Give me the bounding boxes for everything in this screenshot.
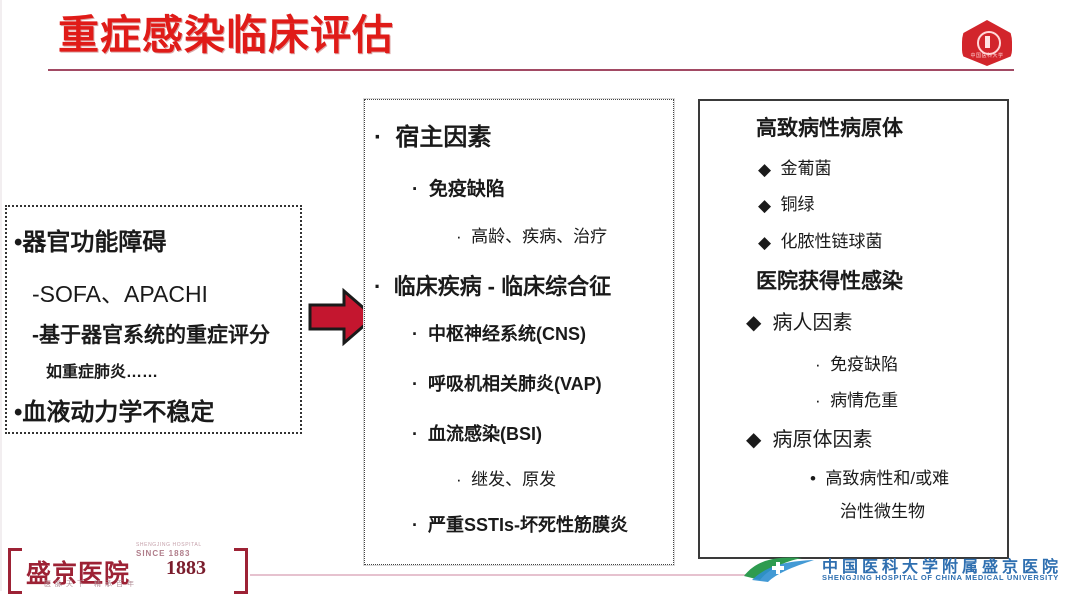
mid-heading-host-factors-label: 宿主因素 [395, 124, 491, 151]
footer-rule [250, 574, 760, 576]
bullet-icon: · [456, 227, 462, 246]
right-item-patient-factors-label: 病人因素 [773, 312, 853, 334]
right-item-virulent-resistant-label: 高致病性和/或难 [825, 469, 949, 488]
mid-heading-clinical-disease-label: 临床疾病 - 临床综合征 [394, 274, 612, 299]
mid-item-sstis: · 严重SSTIs-坏死性筋膜炎 [412, 511, 628, 537]
logo-english-small: SHENGJING HOSPITAL [136, 542, 202, 548]
logo-motto: 医脉天下 精承百年 [44, 579, 138, 589]
right-item-patient-factors: ◆ 病人因素 [746, 306, 853, 335]
bullet-icon: · [412, 515, 418, 535]
diamond-bullet-icon: ◆ [758, 160, 771, 180]
bullet-icon: · [412, 179, 418, 200]
logo-bracket-right [234, 548, 248, 594]
swoosh-icon [742, 554, 816, 584]
right-heading-nosocomial-infection: 医院获得性感染 [756, 265, 903, 295]
bullet-icon: · [374, 274, 381, 299]
mid-item-immunodeficiency: · 免疫缺陷 [412, 174, 505, 201]
left-edge-rule [0, 0, 2, 591]
right-item-strep-pyogenes: ◆ 化脓性链球菌 [758, 227, 883, 253]
right-item-immunodeficiency: · 免疫缺陷 [815, 350, 898, 375]
bullet-icon: · [815, 355, 821, 374]
logo-bracket-left [8, 548, 22, 594]
right-item-critical-condition-label: 病情危重 [830, 391, 898, 410]
bullet-icon: · [456, 470, 462, 489]
left-line-1: •器官功能障碍 [14, 222, 166, 257]
slide-canvas: 重症感染临床评估 中国医科大学 •器官功能障碍 -SOFA、APACHI -基于… [0, 0, 1077, 591]
mid-item-bsi: · 血流感染(BSI) [412, 420, 542, 446]
left-line-2-label: SOFA、APACHI [40, 281, 208, 307]
left-line-5-label: 血液动力学不稳定 [22, 399, 214, 426]
left-line-1-label: 器官功能障碍 [22, 229, 166, 256]
bullet-icon: · [412, 424, 418, 444]
bullet-icon: • [810, 469, 816, 488]
right-item-staph-aureus-label: 金葡菌 [781, 159, 832, 178]
right-item-staph-aureus: ◆ 金葡菌 [758, 154, 832, 180]
mid-item-vap-label: 呼吸机相关肺炎(VAP) [428, 374, 602, 394]
bullet-icon: · [412, 324, 418, 344]
mid-item-sstis-label: 严重SSTIs-坏死性筋膜炎 [428, 515, 628, 535]
diamond-bullet-icon: ◆ [758, 196, 771, 216]
logo-year: 1883 [166, 557, 206, 580]
left-line-3-label: 基于器官系统的重症评分 [39, 324, 270, 347]
bullet-icon: · [815, 391, 821, 410]
right-heading-highly-pathogenic: 高致病性病原体 [756, 112, 903, 142]
emblem-caption: 中国医科大学 [962, 52, 1012, 59]
diamond-bullet-icon: ◆ [758, 233, 771, 253]
mid-item-vap: · 呼吸机相关肺炎(VAP) [412, 370, 602, 396]
mid-item-secondary-primary: · 继发、原发 [456, 465, 556, 490]
mid-item-secondary-primary-label: 继发、原发 [471, 470, 556, 489]
panel-pathogens [698, 99, 1009, 559]
mid-item-cns: · 中枢神经系统(CNS) [412, 320, 586, 346]
right-item-immunodeficiency-label: 免疫缺陷 [830, 355, 898, 374]
bullet-icon: · [374, 124, 382, 151]
right-item-pathogen-factors-label: 病原体因素 [773, 429, 873, 451]
mid-item-age-disease-treatment-label: 高龄、疾病、治疗 [471, 227, 607, 246]
hospital-emblem-icon: 中国医科大学 [962, 20, 1012, 68]
dash-icon: - [32, 281, 40, 307]
diamond-bullet-icon: ◆ [746, 429, 761, 451]
mid-item-age-disease-treatment: · 高龄、疾病、治疗 [456, 222, 607, 247]
mid-item-immunodeficiency-label: 免疫缺陷 [429, 179, 505, 200]
china-medical-university-logo: 中国医科大学附属盛京医院 SHENGJING HOSPITAL OF CHINA… [742, 552, 1072, 586]
cmu-english-name: SHENGJING HOSPITAL OF CHINA MEDICAL UNIV… [822, 573, 1059, 582]
mid-item-bsi-label: 血流感染(BSI) [428, 424, 542, 444]
right-item-pathogen-factors: ◆ 病原体因素 [746, 423, 873, 452]
right-item-pseudomonas: ◆ 铜绿 [758, 190, 815, 216]
shengjing-hospital-logo: SHENGJING HOSPITAL SINCE 1883 盛京医院 1883 … [8, 548, 248, 588]
mid-item-cns-label: 中枢神经系统(CNS) [428, 324, 586, 344]
bullet-icon: · [412, 374, 418, 394]
mid-heading-clinical-disease: · 临床疾病 - 临床综合征 [374, 269, 611, 301]
left-line-5: •血液动力学不稳定 [14, 392, 214, 427]
right-item-strep-pyogenes-label: 化脓性链球菌 [781, 232, 883, 251]
title-underline [48, 69, 1014, 71]
right-item-critical-condition: · 病情危重 [815, 386, 898, 411]
left-line-2: -SOFA、APACHI [32, 275, 208, 309]
diamond-bullet-icon: ◆ [746, 312, 761, 334]
left-line-3: -基于器官系统的重症评分 [32, 319, 270, 349]
right-item-virulent-resistant: • 高致病性和/或难 [810, 464, 949, 489]
left-line-4: 如重症肺炎…… [46, 358, 158, 382]
dash-icon: - [32, 324, 39, 347]
right-item-virulent-resistant-cont: 治性微生物 [840, 497, 925, 522]
page-title: 重症感染临床评估 [58, 9, 394, 61]
right-item-pseudomonas-label: 铜绿 [781, 195, 815, 214]
mid-heading-host-factors: · 宿主因素 [374, 117, 491, 152]
